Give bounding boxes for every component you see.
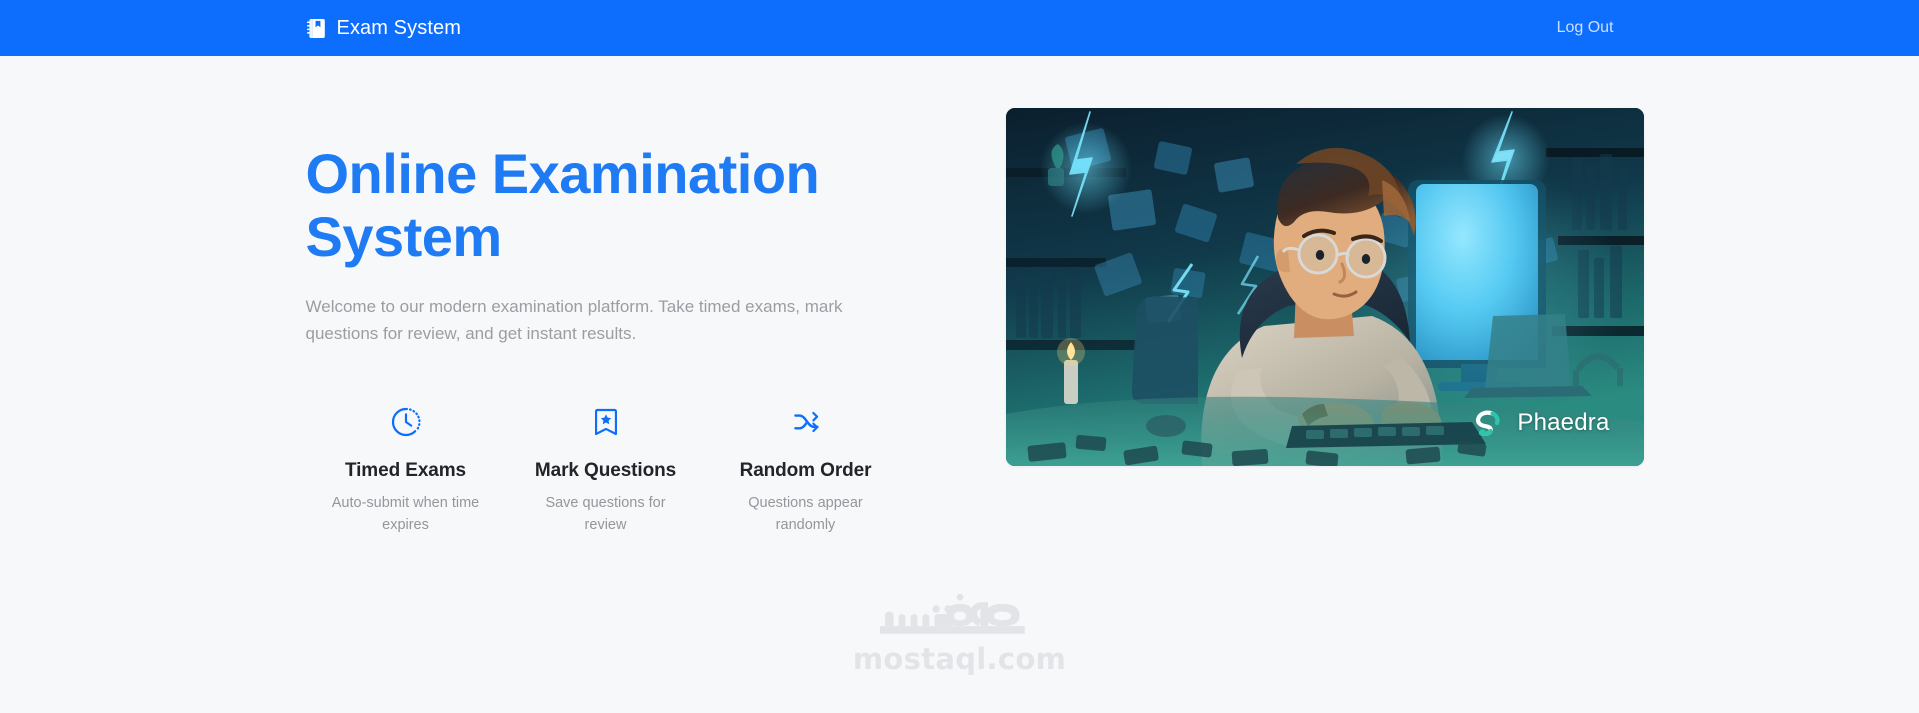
notebook-icon: [306, 17, 328, 39]
mostaql-domain-label: mostaql.com: [853, 642, 1066, 676]
hero-section: Online Examination System Welcome to our…: [290, 56, 1630, 537]
feature-description: Questions appear randomly: [731, 492, 881, 537]
mostaql-arabic-logo-icon: [872, 592, 1048, 638]
hero-illustration: Phaedra: [1006, 108, 1644, 466]
navbar-container: Exam System Log Out: [290, 17, 1630, 40]
clock-dashed-icon: [316, 400, 496, 444]
bookmark-star-icon: [516, 400, 696, 444]
shuffle-icon: [716, 400, 896, 444]
feature-list: Timed Exams Auto-submit when time expire…: [306, 400, 906, 537]
feature-mark-questions: Mark Questions Save questions for review: [506, 400, 706, 537]
brand-label: Exam System: [337, 17, 461, 40]
mostaql-watermark: mostaql.com: [0, 592, 1919, 676]
feature-title: Timed Exams: [316, 460, 496, 482]
top-navbar: Exam System Log Out: [0, 0, 1919, 56]
hero-text-column: Online Examination System Welcome to our…: [306, 108, 946, 537]
brand-link[interactable]: Exam System: [306, 17, 461, 40]
hero-subtitle: Welcome to our modern examination platfo…: [306, 293, 906, 348]
logout-button[interactable]: Log Out: [1557, 19, 1614, 37]
feature-description: Auto-submit when time expires: [331, 492, 481, 537]
page-title: Online Examination System: [306, 142, 866, 269]
feature-title: Mark Questions: [516, 460, 696, 482]
feature-random-order: Random Order Questions appear randomly: [706, 400, 906, 537]
feature-title: Random Order: [716, 460, 896, 482]
feature-description: Save questions for review: [531, 492, 681, 537]
hero-image-column: Phaedra: [1006, 108, 1644, 466]
feature-timed-exams: Timed Exams Auto-submit when time expire…: [306, 400, 506, 537]
